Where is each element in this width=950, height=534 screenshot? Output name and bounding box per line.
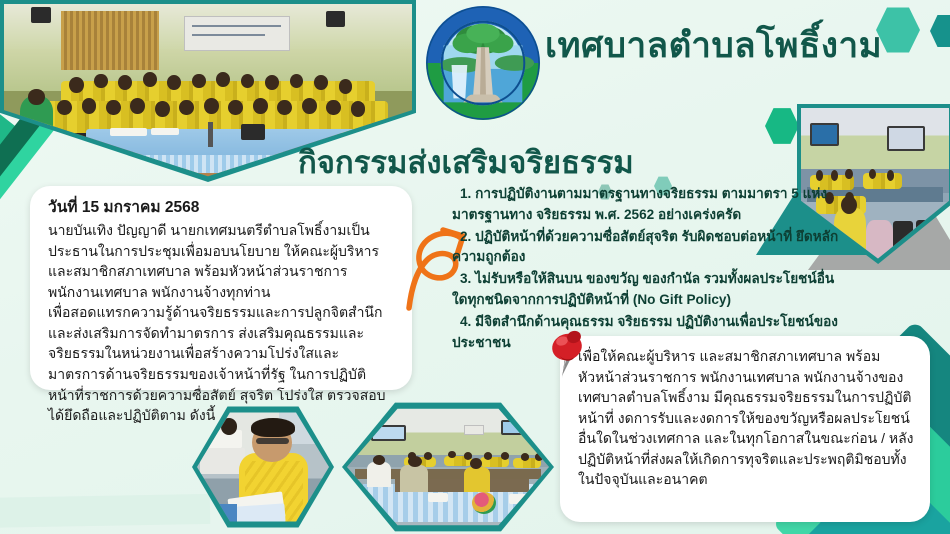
- ethics-measures-list: 1. การปฏิบัติงานตามมาตรฐานทางจริยธรรม ตา…: [452, 184, 842, 354]
- decorative-band-bottom-left: [0, 494, 210, 528]
- activity-date: วันที่ 15 มกราคม 2568: [48, 198, 396, 219]
- left-card-paragraph-2: เพื่อสอดแทรกความรู้ด้านจริยธรรมและการปลู…: [48, 302, 396, 425]
- left-card-paragraph-1: นายบันเทิง ปัญญาดี นายกเทศมนตรีตำบลโพธิ์…: [48, 220, 396, 302]
- page-title: เทศบาลตำบลโพธิ์งาม: [545, 18, 882, 73]
- main-heading: กิจกรรมส่งเสริมจริยธรรม: [298, 137, 634, 187]
- right-card-body: เพื่อให้คณะผู้บริหาร และสมาชิกสภาเทศบาล …: [578, 346, 916, 490]
- left-card-body: นายบันเทิง ปัญญาดี นายกเทศมนตรีตำบลโพธิ์…: [48, 220, 396, 426]
- municipality-seal: [424, 4, 542, 122]
- right-info-card: เพื่อให้คณะผู้บริหาร และสมาชิกสภาเทศบาล …: [560, 336, 930, 522]
- list-item: 1. การปฏิบัติงานตามมาตรฐานทางจริยธรรม ตา…: [452, 184, 842, 226]
- right-card-paragraph: เพื่อให้คณะผู้บริหาร และสมาชิกสภาเทศบาล …: [578, 346, 916, 490]
- left-info-card: วันที่ 15 มกราคม 2568 นายบันเทิง ปัญญาดี…: [30, 186, 412, 390]
- pushpin-icon: [540, 326, 592, 382]
- list-item: 3. ไม่รับหรือให้สินบน ของขวัญ ของกำนัล ร…: [452, 269, 842, 311]
- list-item: 2. ปฏิบัติหน้าที่ด้วยความซื่อสัตย์สุจริต…: [452, 227, 842, 269]
- poster-canvas: เทศบาลตำบลโพธิ์งาม กิจกรรมส่งเสริมจริยธร…: [0, 0, 950, 534]
